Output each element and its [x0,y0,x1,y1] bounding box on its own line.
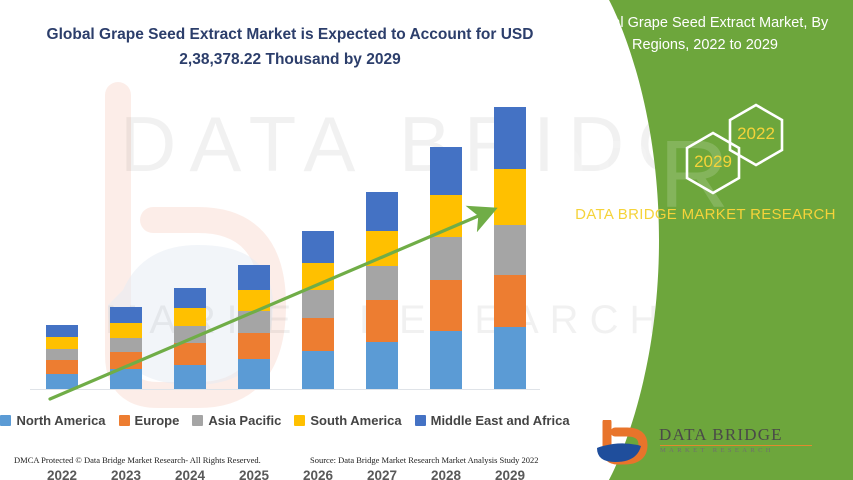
bar-2026 [302,231,334,389]
bar-segment-north-america [46,374,78,389]
bar-segment-south-america [46,337,78,348]
bar-2023 [110,307,142,389]
x-axis-label-2022: 2022 [32,468,92,480]
bar-segment-middle-east-and-africa [238,265,270,290]
bar-2028 [430,147,462,389]
bar-segment-north-america [430,331,462,389]
hexagon-label-2022: 2022 [721,124,791,144]
dbmr-logo-subtitle: MARKET RESEARCH [660,447,774,454]
x-axis-label-2029: 2029 [480,468,540,480]
bar-segment-middle-east-and-africa [46,325,78,338]
bar-2027 [366,192,398,389]
bar-segment-asia-pacific [238,311,270,333]
bar-2025 [238,265,270,389]
x-axis-label-2025: 2025 [224,468,284,480]
bar-segment-europe [174,343,206,364]
bar-segment-europe [110,352,142,369]
x-axis-label-2028: 2028 [416,468,476,480]
chart-legend: North AmericaEuropeAsia PacificSouth Ame… [0,409,570,431]
legend-label: Asia Pacific [208,413,281,428]
bar-segment-south-america [238,290,270,312]
dbmr-logo-title: DATA BRIDGE [659,425,783,445]
legend-label: North America [16,413,105,428]
bar-segment-north-america [238,359,270,389]
bar-segment-asia-pacific [46,349,78,360]
bar-segment-south-america [110,323,142,337]
legend-swatch-icon [0,415,11,426]
bar-segment-asia-pacific [366,266,398,301]
x-axis-label-2026: 2026 [288,468,348,480]
dbmr-mark-icon [591,420,653,466]
panel-title: Global Grape Seed Extract Market, By Reg… [571,12,839,57]
legend-swatch-icon [415,415,426,426]
bar-segment-north-america [110,369,142,389]
bar-segment-north-america [302,351,334,389]
legend-item-north-america[interactable]: North America [0,413,105,428]
legend-label: South America [310,413,401,428]
bar-2024 [174,288,206,389]
bar-segment-south-america [302,263,334,291]
bar-segment-middle-east-and-africa [430,147,462,195]
hexagon-shapes-icon [553,95,853,205]
bar-segment-asia-pacific [302,290,334,318]
legend-swatch-icon [294,415,305,426]
bar-segment-middle-east-and-africa [494,107,526,169]
stacked-bar-chart: 20222023202420252026202720282029 [0,90,570,390]
bar-segment-middle-east-and-africa [366,192,398,231]
bar-segment-middle-east-and-africa [302,231,334,262]
hexagon-group: 2022 2029 [553,95,853,205]
bar-segment-south-america [366,231,398,266]
bar-segment-north-america [174,365,206,389]
legend-swatch-icon [119,415,130,426]
legend-item-middle-east-and-africa[interactable]: Middle East and Africa [415,413,570,428]
legend-label: Middle East and Africa [431,413,570,428]
infographic-canvas: DATA BRIDGE MARKET RESEARCH Global Grape… [0,0,853,480]
bar-segment-south-america [174,308,206,326]
brand-panel: DBR Global Grape Seed Extract Market, By… [553,0,853,480]
bar-segment-south-america [430,195,462,238]
bar-segment-asia-pacific [174,326,206,344]
bar-segment-europe [494,275,526,327]
bar-segment-north-america [494,327,526,389]
legend-swatch-icon [192,415,203,426]
bar-segment-north-america [366,342,398,389]
dbmr-logo-rule [660,445,812,446]
bar-segment-europe [366,300,398,342]
brand-name: DATA BRIDGE MARKET RESEARCH [568,203,843,226]
legend-item-asia-pacific[interactable]: Asia Pacific [192,413,281,428]
x-axis-label-2027: 2027 [352,468,412,480]
bar-segment-europe [430,280,462,331]
bar-segment-europe [238,333,270,359]
legend-item-south-america[interactable]: South America [294,413,401,428]
bar-segment-middle-east-and-africa [174,288,206,308]
bar-segment-south-america [494,169,526,225]
bar-segment-asia-pacific [430,237,462,280]
growth-arrow-icon [0,180,570,480]
legend-label: Europe [135,413,180,428]
x-axis-labels: 20222023202420252026202720282029 [0,468,570,480]
bar-2022 [46,325,78,389]
page-title: Global Grape Seed Extract Market is Expe… [40,22,540,72]
x-axis-label-2023: 2023 [96,468,156,480]
dbmr-logo: DATA BRIDGE MARKET RESEARCH [591,420,831,468]
bar-segment-asia-pacific [494,225,526,275]
chart-baseline [30,389,540,390]
x-axis-label-2024: 2024 [160,468,220,480]
bar-segment-middle-east-and-africa [110,307,142,323]
footer-copyright: DMCA Protected © Data Bridge Market Rese… [14,455,261,465]
bar-segment-asia-pacific [110,338,142,352]
hexagon-label-2029: 2029 [678,152,748,172]
brand-panel-background [553,0,853,480]
bar-segment-europe [46,360,78,374]
bar-segment-europe [302,318,334,351]
legend-item-europe[interactable]: Europe [119,413,180,428]
footer-source: Source: Data Bridge Market Research Mark… [310,455,539,465]
bar-2029 [494,107,526,389]
